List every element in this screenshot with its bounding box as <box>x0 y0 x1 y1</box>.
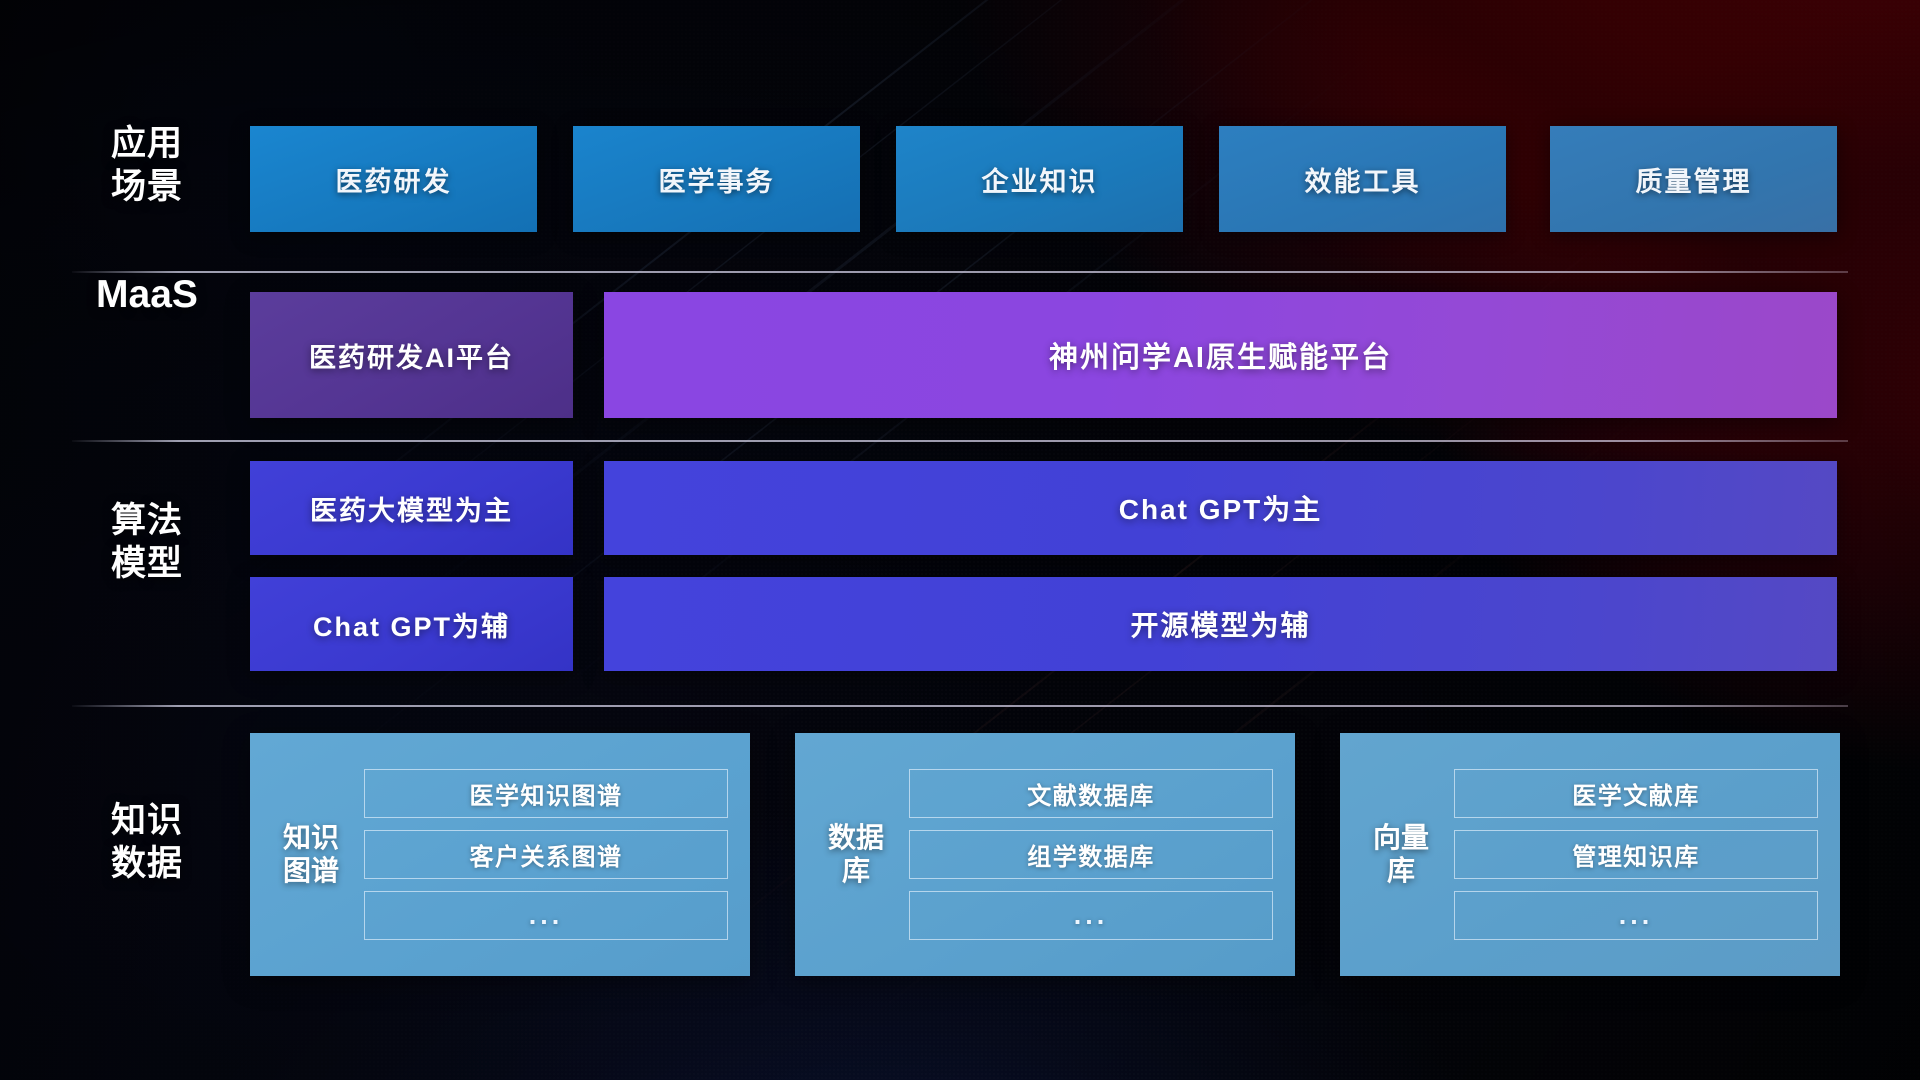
algo-label: 开源模型为辅 <box>1130 604 1310 644</box>
scenario-box-enterprise-knowledge[interactable]: 企业知识 <box>896 126 1183 232</box>
knowledge-item[interactable]: 医学文献库 <box>1454 769 1818 818</box>
knowledge-item[interactable]: 组学数据库 <box>909 830 1273 879</box>
scenario-label: 医药研发 <box>336 160 452 199</box>
knowledge-item-list: 医学文献库 管理知识库 ... <box>1440 769 1840 940</box>
knowledge-group-knowledge-graph[interactable]: 知识 图谱 医学知识图谱 客户关系图谱 ... <box>250 733 750 976</box>
maas-box-shenzhou-wenxue-platform[interactable]: 神州问学AI原生赋能平台 <box>604 292 1837 418</box>
knowledge-group-vector-store[interactable]: 向量 库 医学文献库 管理知识库 ... <box>1340 733 1840 976</box>
row-label-application: 应用 场景 <box>72 123 222 208</box>
maas-label: 神州问学AI原生赋能平台 <box>1049 334 1392 376</box>
architecture-diagram: 应用 场景 医药研发 医学事务 企业知识 效能工具 质量管理 MaaS 医药研发… <box>0 0 1920 1080</box>
knowledge-item-list: 医学知识图谱 客户关系图谱 ... <box>350 769 750 940</box>
algo-box-medicine-llm-primary[interactable]: 医药大模型为主 <box>250 461 573 555</box>
algo-box-chatgpt-secondary[interactable]: Chat GPT为辅 <box>250 577 573 671</box>
row-label-maas: MaaS <box>72 271 222 319</box>
knowledge-item-list: 文献数据库 组学数据库 ... <box>895 769 1295 940</box>
knowledge-group-title: 数据 库 <box>817 822 895 887</box>
divider-maas-algorithm <box>72 440 1848 442</box>
algo-label: 医药大模型为主 <box>310 489 513 528</box>
divider-algorithm-knowledge <box>72 705 1848 707</box>
scenario-box-efficiency-tools[interactable]: 效能工具 <box>1219 126 1506 232</box>
algo-label: Chat GPT为主 <box>1119 488 1323 528</box>
knowledge-item[interactable]: 客户关系图谱 <box>364 830 728 879</box>
scenario-box-quality-management[interactable]: 质量管理 <box>1550 126 1837 232</box>
knowledge-group-title: 向量 库 <box>1362 822 1440 887</box>
knowledge-item-more[interactable]: ... <box>364 891 728 940</box>
scenario-label: 效能工具 <box>1305 160 1421 199</box>
algo-label: Chat GPT为辅 <box>313 605 510 644</box>
knowledge-item[interactable]: 医学知识图谱 <box>364 769 728 818</box>
algo-box-opensource-secondary[interactable]: 开源模型为辅 <box>604 577 1837 671</box>
row-label-knowledge: 知识 数据 <box>72 800 222 885</box>
knowledge-item-more[interactable]: ... <box>1454 891 1818 940</box>
scenario-box-medicine-rd[interactable]: 医药研发 <box>250 126 537 232</box>
knowledge-group-database[interactable]: 数据 库 文献数据库 组学数据库 ... <box>795 733 1295 976</box>
row-label-algorithm: 算法 模型 <box>72 500 222 585</box>
knowledge-item[interactable]: 管理知识库 <box>1454 830 1818 879</box>
scenario-box-medical-affairs[interactable]: 医学事务 <box>573 126 860 232</box>
knowledge-item-more[interactable]: ... <box>909 891 1273 940</box>
divider-application-maas <box>72 271 1848 273</box>
maas-box-medicine-rd-platform[interactable]: 医药研发AI平台 <box>250 292 573 418</box>
scenario-label: 质量管理 <box>1636 160 1752 199</box>
scenario-label: 企业知识 <box>982 160 1098 199</box>
knowledge-item[interactable]: 文献数据库 <box>909 769 1273 818</box>
knowledge-group-title: 知识 图谱 <box>272 822 350 887</box>
scenario-label: 医学事务 <box>659 160 775 199</box>
algo-box-chatgpt-primary[interactable]: Chat GPT为主 <box>604 461 1837 555</box>
maas-label: 医药研发AI平台 <box>309 336 514 375</box>
